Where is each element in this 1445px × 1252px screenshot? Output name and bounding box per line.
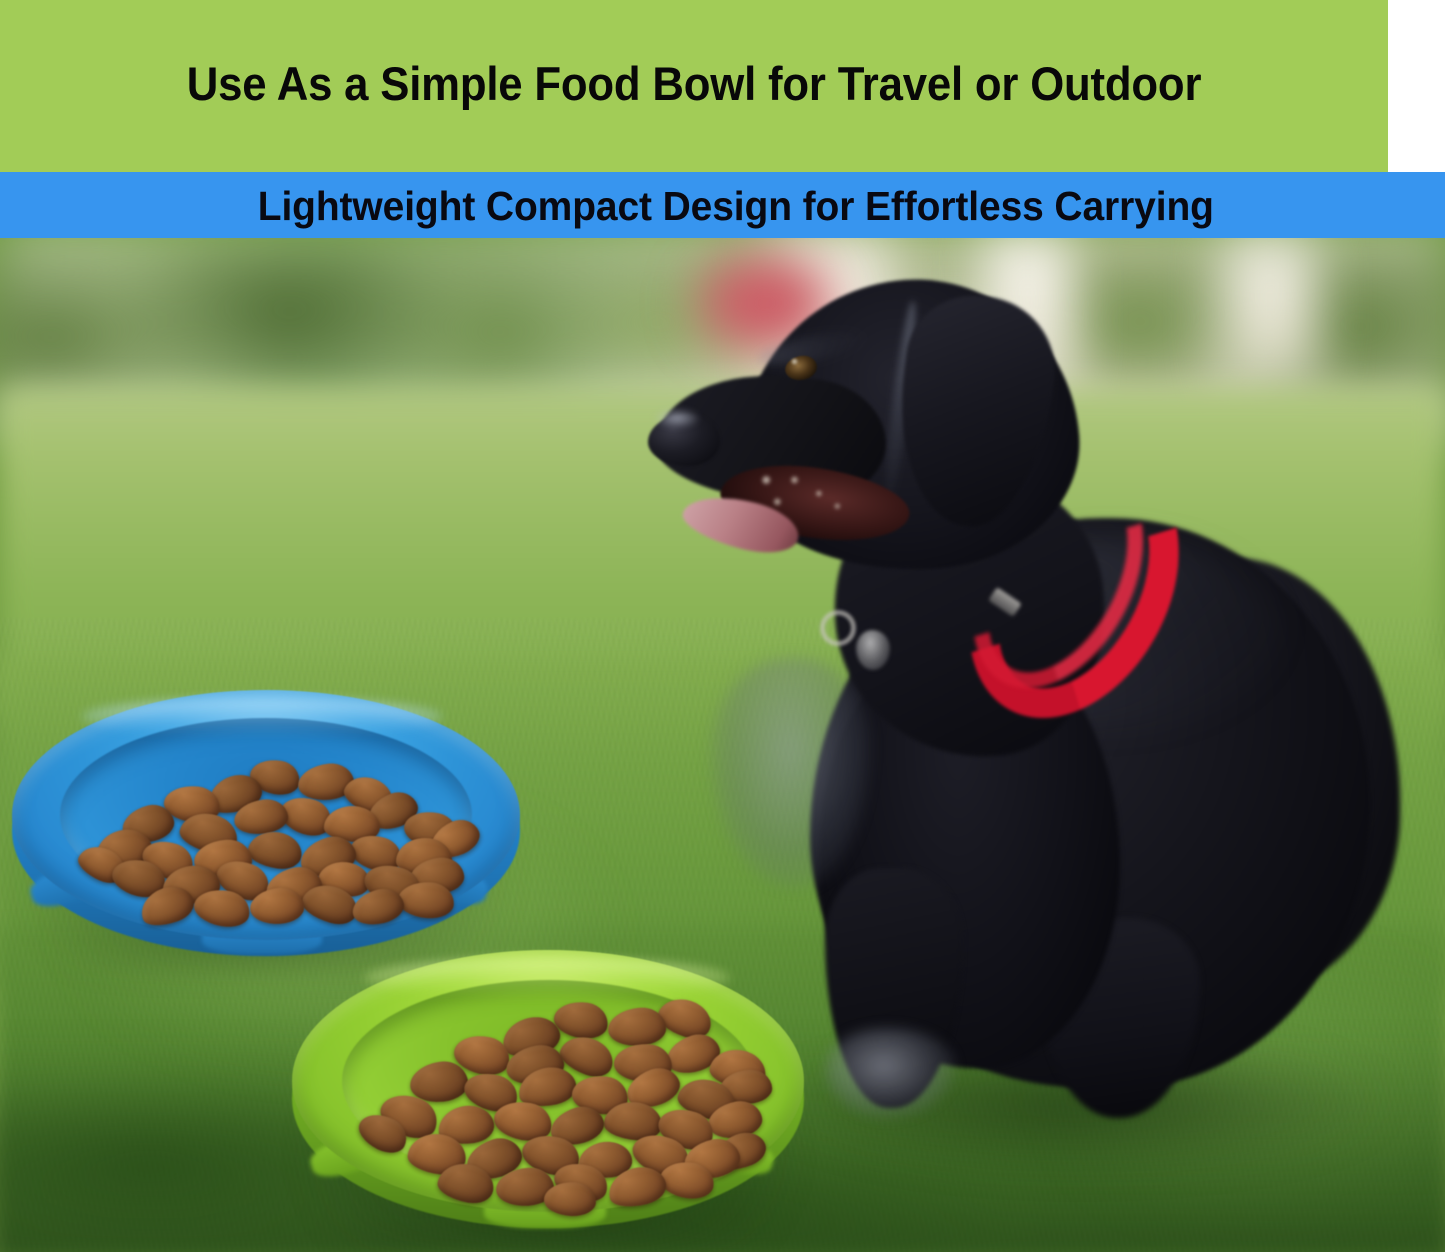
dog-nose-highlight (654, 408, 700, 428)
green-bowl-rim-highlight (364, 958, 730, 998)
product-photo (0, 238, 1445, 1252)
subheadline-text: Lightweight Compact Design for Effortles… (36, 183, 1409, 230)
green-bowl (292, 950, 804, 1240)
headline-text: Use As a Simple Food Bowl for Travel or … (49, 56, 1340, 111)
infographic-canvas: Use As a Simple Food Bowl for Travel or … (0, 0, 1445, 1252)
collar-ring-icon (820, 610, 856, 646)
blue-bowl (12, 690, 520, 958)
dog-eye-highlight (790, 358, 799, 365)
blue-bowl-rim-highlight (82, 698, 442, 736)
